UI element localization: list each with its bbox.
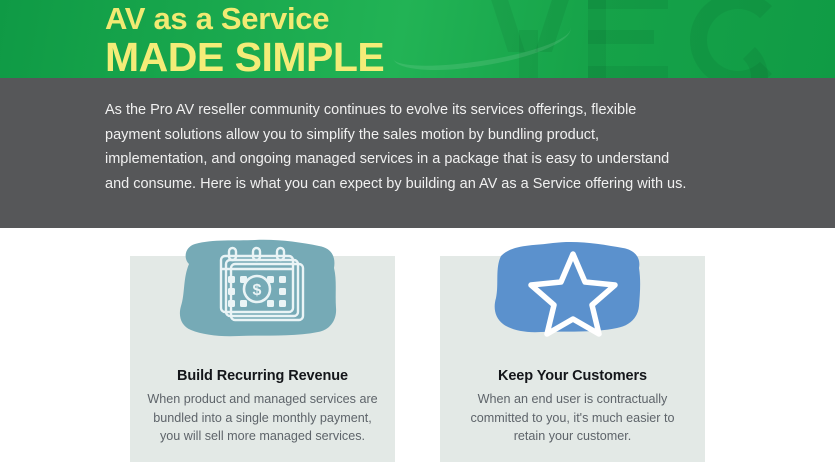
intro-section: As the Pro AV reseller community continu… bbox=[0, 78, 835, 228]
card-body-text: When product and managed services are bu… bbox=[144, 390, 381, 446]
svg-text:$: $ bbox=[252, 282, 261, 299]
card-keep-your-customers[interactable]: Keep Your Customers When an end user is … bbox=[440, 256, 705, 462]
header-banner: AV as a Service MADE SIMPLE bbox=[0, 0, 835, 78]
card-title: Build Recurring Revenue bbox=[130, 368, 395, 384]
watermark-letter-e bbox=[588, 0, 606, 78]
cards-section: $ Build Recurring Revenue When product a… bbox=[0, 228, 835, 470]
card-icon-area: $ bbox=[130, 238, 395, 350]
title-line-two: MADE SIMPLE bbox=[105, 36, 384, 78]
calendar-dollar-icon: $ bbox=[173, 238, 353, 348]
page-title: AV as a Service MADE SIMPLE bbox=[105, 2, 384, 78]
card-body-text: When an end user is contractually commit… bbox=[454, 390, 691, 446]
card-title: Keep Your Customers bbox=[440, 368, 705, 384]
title-line-one: AV as a Service bbox=[105, 2, 384, 36]
intro-paragraph: As the Pro AV reseller community continu… bbox=[105, 98, 695, 196]
star-icon bbox=[483, 238, 663, 348]
card-build-recurring-revenue[interactable]: $ Build Recurring Revenue When product a… bbox=[130, 256, 395, 462]
card-icon-area bbox=[440, 238, 705, 350]
